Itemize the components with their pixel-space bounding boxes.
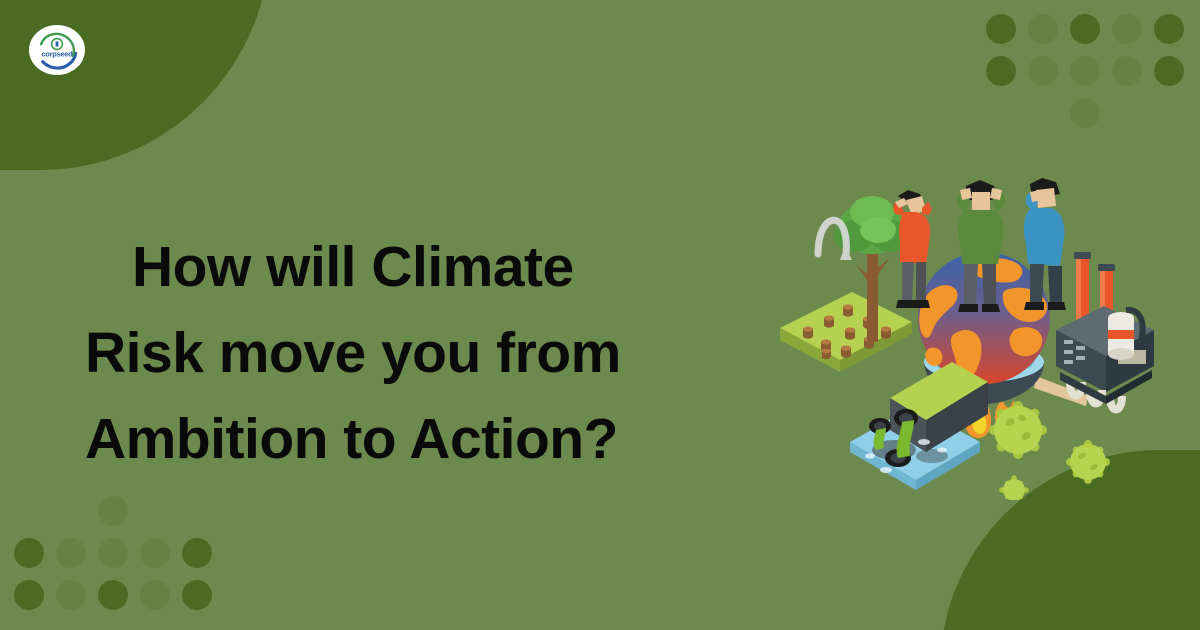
dot <box>182 580 212 610</box>
person-orange-shirt <box>899 212 930 264</box>
banner-root: corpseed How will Climate Risk move you … <box>0 0 1200 630</box>
dot <box>140 538 170 568</box>
dot <box>1112 14 1142 44</box>
dot <box>14 580 44 610</box>
person-blue-shirt <box>1024 208 1064 266</box>
headline-line-2: Risk move you from <box>85 310 725 396</box>
dot <box>1154 14 1184 44</box>
dot <box>1070 98 1100 128</box>
bottom-left-dot-grid <box>8 490 218 616</box>
person-green-head <box>972 192 990 210</box>
dot <box>986 14 1016 44</box>
person-orange-pants <box>902 262 914 302</box>
corpseed-logo[interactable]: corpseed <box>28 24 86 76</box>
dot <box>1112 56 1142 86</box>
logo-wordmark: corpseed <box>41 49 73 58</box>
dot <box>98 580 128 610</box>
person-green-shirt <box>958 210 1004 264</box>
virus-particles <box>989 401 1110 500</box>
factory-tank <box>1108 312 1134 360</box>
person-blue <box>1024 178 1066 310</box>
factory <box>1056 252 1154 410</box>
page-title: How will Climate Risk move you from Ambi… <box>85 224 725 482</box>
person-blue-pants <box>1030 264 1044 304</box>
dot <box>14 538 44 568</box>
person-green-shoe <box>958 304 978 312</box>
dot <box>1070 56 1100 86</box>
climate-change-illustration <box>774 150 1174 500</box>
headline-line-1: How will Climate <box>85 224 725 310</box>
dot <box>56 538 86 568</box>
dot <box>98 538 128 568</box>
water-pollution <box>850 362 988 490</box>
dot <box>98 496 128 526</box>
person-orange-shoe <box>896 300 914 308</box>
dot <box>1028 56 1058 86</box>
deforestation-plot <box>780 196 912 372</box>
virus-medium <box>1066 440 1110 484</box>
dot <box>1154 56 1184 86</box>
top-right-dot-grid <box>980 8 1190 134</box>
dot <box>1028 14 1058 44</box>
person-blue-shoe <box>1024 302 1044 310</box>
headline-line-3: Ambition to Action? <box>85 396 725 482</box>
dot <box>986 56 1016 86</box>
virus-small <box>999 475 1029 500</box>
dot <box>182 538 212 568</box>
dot <box>1070 14 1100 44</box>
person-green-pants <box>964 264 978 306</box>
dot <box>140 580 170 610</box>
dot <box>56 580 86 610</box>
